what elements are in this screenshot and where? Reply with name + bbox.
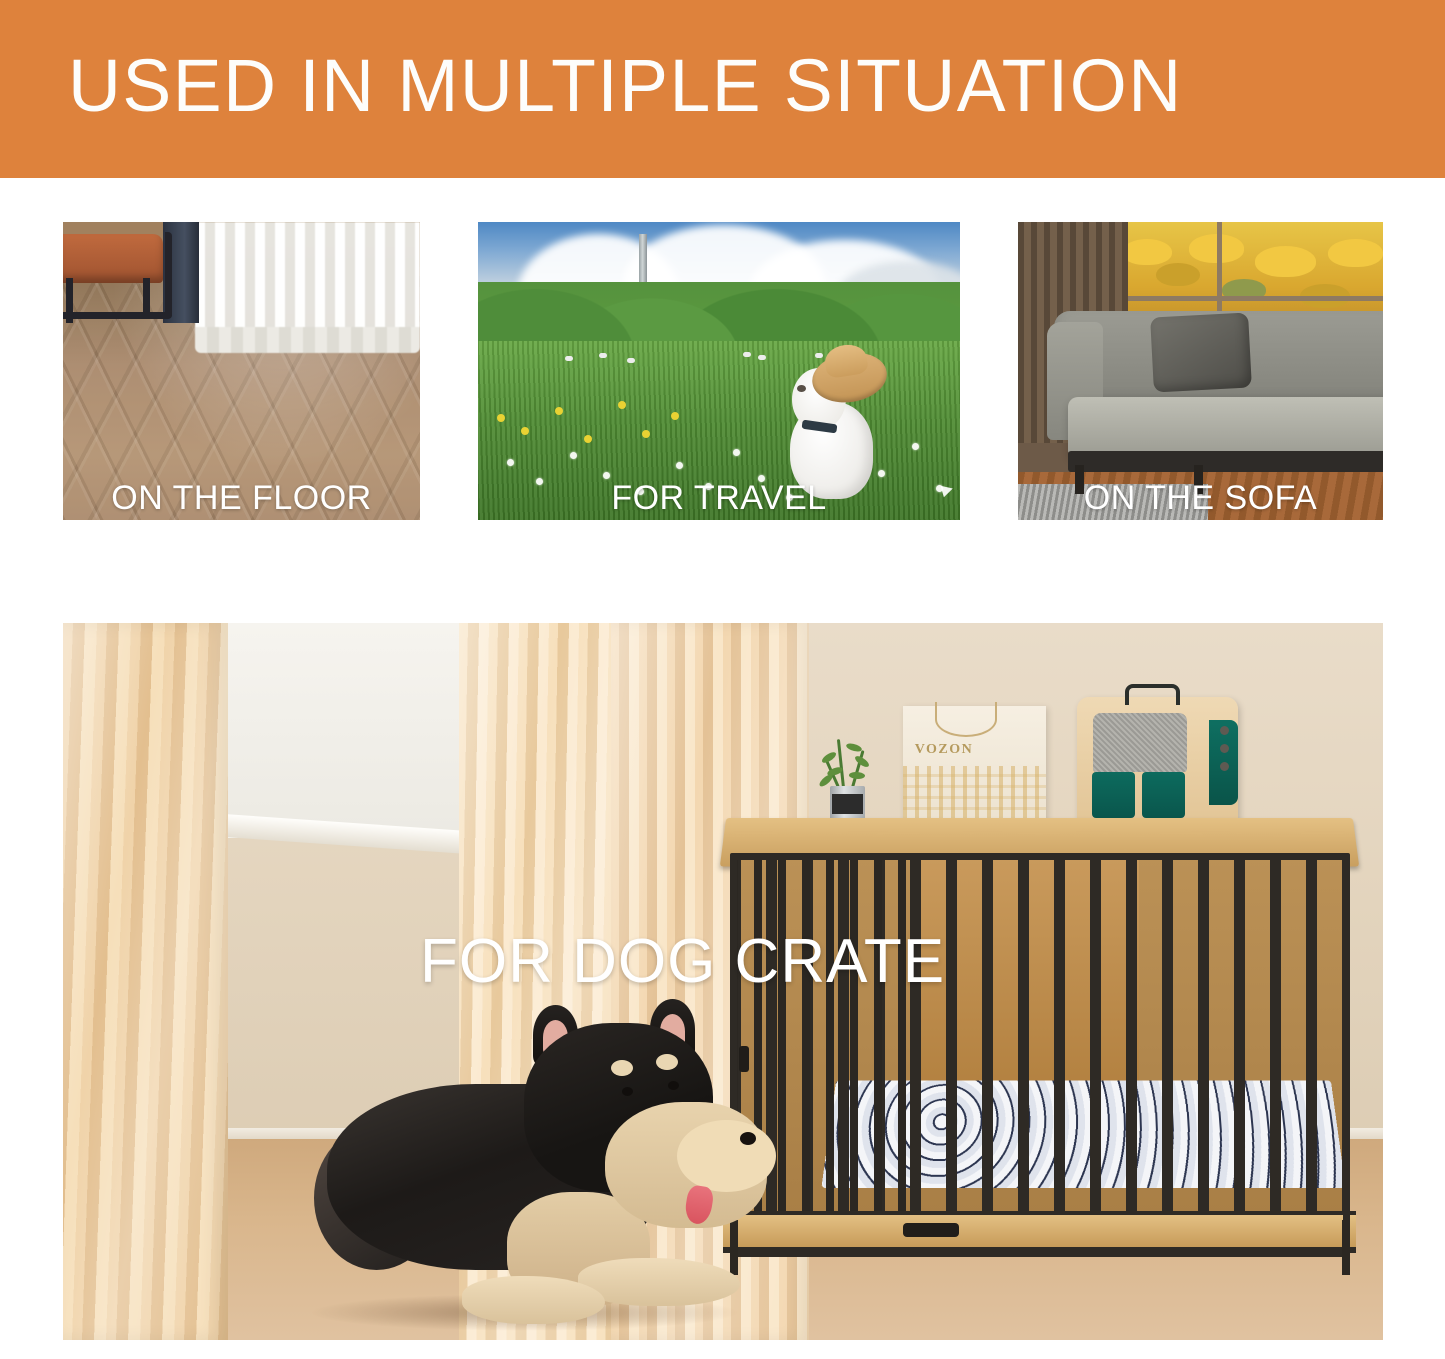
dog-eye [622, 1087, 633, 1096]
curtain-sheen [63, 623, 228, 1340]
thumbnail-on-the-sofa[interactable]: ON THE SOFA [1018, 222, 1383, 520]
carrier-vent-hole [1220, 744, 1229, 753]
grey-leather-sofa [1047, 311, 1383, 490]
carrier-pocket [1142, 772, 1186, 818]
shopping-bag: VOZON [903, 706, 1046, 825]
armchair [63, 228, 177, 323]
thumbnail-label: ON THE FLOOR [63, 479, 420, 518]
thumbnail-on-the-floor[interactable]: ON THE FLOOR [63, 222, 420, 520]
dog-nose [797, 385, 806, 392]
curtain-panel-left [63, 623, 228, 1340]
dog-nose [740, 1132, 756, 1145]
scene-floor-room [63, 222, 420, 520]
bag-brand-text: VOZON [915, 742, 974, 758]
hero-image-for-dog-crate[interactable]: VOZON [63, 623, 1383, 1340]
thumbnail-for-travel[interactable]: FOR TRAVEL [478, 222, 960, 520]
sofa-seat-cushions [1068, 397, 1383, 458]
carrier-pocket [1092, 772, 1136, 818]
sheep [599, 353, 607, 358]
chair-leg [66, 278, 73, 324]
pet-carrier-backpack [1077, 697, 1238, 825]
sheer-curtain [195, 222, 420, 341]
sheep [743, 352, 751, 357]
thumbnail-label: FOR TRAVEL [478, 479, 960, 518]
carrier-vent-hole [1220, 726, 1229, 735]
can-label [832, 794, 863, 813]
crate-leg [1342, 1220, 1350, 1275]
dog-eyebrow-marking [656, 1054, 678, 1070]
carrier-vent-hole [1220, 762, 1229, 771]
bag-pattern [903, 766, 1046, 821]
dog-front-paw [462, 1276, 606, 1324]
chair-leg [143, 278, 150, 320]
dog-muzzle [677, 1120, 776, 1192]
dog-eye [668, 1081, 679, 1090]
carrier-handle [1125, 684, 1180, 705]
sofa-base [1068, 451, 1383, 472]
bag-handle [935, 702, 998, 738]
thumbnail-label: ON THE SOFA [1018, 479, 1383, 518]
scene-grassland [478, 222, 960, 520]
scene-sofa-room [1018, 222, 1383, 520]
crate-frame [730, 853, 1350, 1257]
white-dog-with-straw-hat [786, 356, 882, 499]
throw-pillow [1150, 312, 1252, 392]
hero-label: FOR DOG CRATE [420, 926, 945, 997]
wooden-dog-crate: VOZON [730, 817, 1350, 1276]
chair-frame [63, 232, 172, 320]
plant-in-tin-can [804, 739, 891, 826]
malamute-dog [327, 1017, 776, 1318]
dog-eyebrow-marking [611, 1060, 633, 1076]
carrier-mesh-panel [1093, 713, 1187, 772]
